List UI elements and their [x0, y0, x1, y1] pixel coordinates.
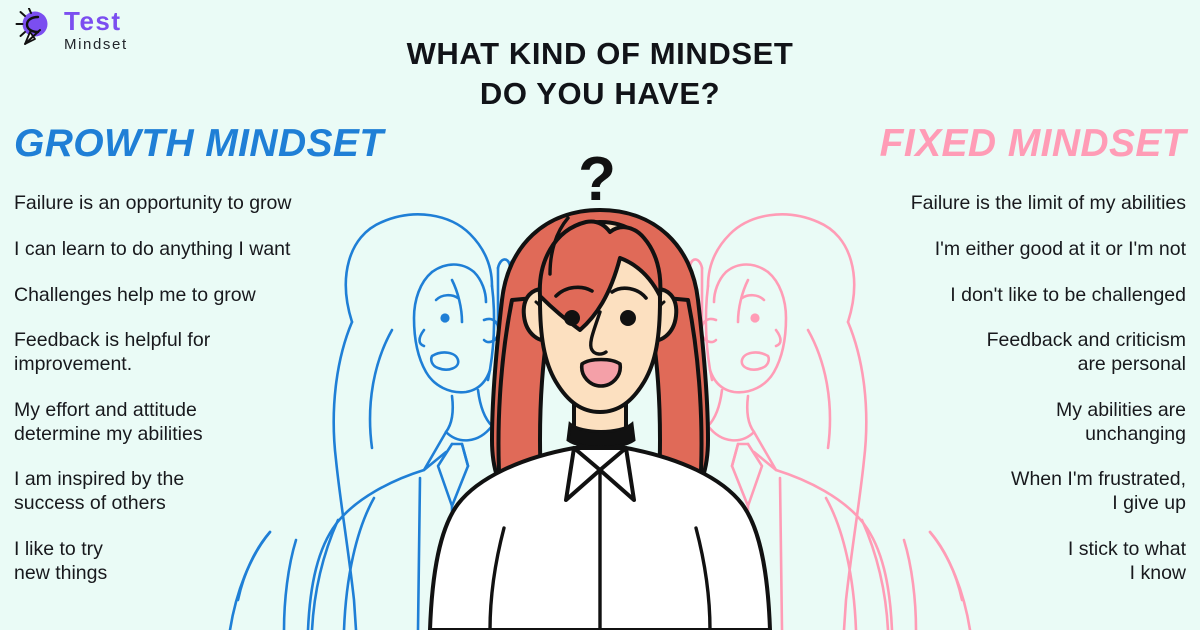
list-item: Failure is the limit of my abilities — [911, 192, 1186, 216]
statement-line-1: I stick to what — [1068, 538, 1186, 560]
statement-line-1: I don't like to be challenged — [950, 284, 1186, 306]
list-item: Failure is an opportunity to grow — [14, 192, 291, 216]
eye-right — [620, 310, 636, 326]
statement-line-2: success of others — [14, 492, 184, 516]
statement-line-2: determine my abilities — [14, 423, 203, 447]
list-item: When I'm frustrated, I give up — [1011, 468, 1186, 516]
list-item: Feedback and criticism are personal — [987, 329, 1186, 377]
list-item: I stick to what I know — [1068, 538, 1186, 586]
statement-line-1: I am inspired by the — [14, 468, 184, 490]
list-item: Feedback is helpful for improvement. — [14, 329, 210, 377]
fixed-mindset-list: Failure is the limit of my abilities I'm… — [911, 192, 1186, 586]
list-item: I can learn to do anything I want — [14, 238, 290, 262]
statement-line-2: are personal — [987, 353, 1186, 377]
statement-line-2: I know — [1068, 562, 1186, 586]
statement-line-2: improvement. — [14, 353, 210, 377]
list-item: Challenges help me to grow — [14, 284, 256, 308]
list-item: I'm either good at it or I'm not — [935, 238, 1186, 262]
statement-line-1: I'm either good at it or I'm not — [935, 238, 1186, 260]
page-title-line-2: DO YOU HAVE? — [0, 74, 1200, 114]
statement-line-1: Feedback is helpful for — [14, 329, 210, 351]
list-item: I am inspired by the success of others — [14, 468, 184, 516]
statement-line-1: Failure is an opportunity to grow — [14, 192, 291, 214]
statement-line-2: new things — [14, 562, 107, 586]
mindset-infographic: ? — [0, 0, 1200, 630]
brand-name: Test — [64, 8, 128, 34]
statement-line-1: When I'm frustrated, — [1011, 468, 1186, 490]
list-item: My abilities are unchanging — [1056, 399, 1186, 447]
statement-line-2: unchanging — [1056, 423, 1186, 447]
statement-line-1: Failure is the limit of my abilities — [911, 192, 1186, 214]
eye-left — [564, 310, 580, 326]
list-item: My effort and attitude determine my abil… — [14, 399, 203, 447]
fixed-mindset-heading: FIXED MINDSET — [880, 124, 1186, 163]
page-title: WHAT KIND OF MINDSET DO YOU HAVE? — [0, 34, 1200, 113]
list-item: I don't like to be challenged — [950, 284, 1186, 308]
statement-line-1: Challenges help me to grow — [14, 284, 256, 306]
statement-line-1: I can learn to do anything I want — [14, 238, 290, 260]
statement-line-1: My effort and attitude — [14, 399, 197, 421]
list-item: I like to try new things — [14, 538, 107, 586]
growth-mindset-heading: GROWTH MINDSET — [14, 124, 384, 163]
svg-text:?: ? — [578, 145, 616, 214]
mouth — [582, 360, 621, 387]
statement-line-1: Feedback and criticism — [987, 329, 1186, 351]
statement-line-1: I like to try — [14, 538, 103, 560]
statement-line-2: I give up — [1011, 492, 1186, 516]
page-title-line-1: WHAT KIND OF MINDSET — [0, 34, 1200, 74]
confused-woman-illustration: ? — [430, 145, 770, 630]
statement-line-1: My abilities are — [1056, 399, 1186, 421]
question-mark-icon: ? — [578, 145, 616, 214]
growth-mindset-list: Failure is an opportunity to grow I can … — [14, 192, 291, 586]
